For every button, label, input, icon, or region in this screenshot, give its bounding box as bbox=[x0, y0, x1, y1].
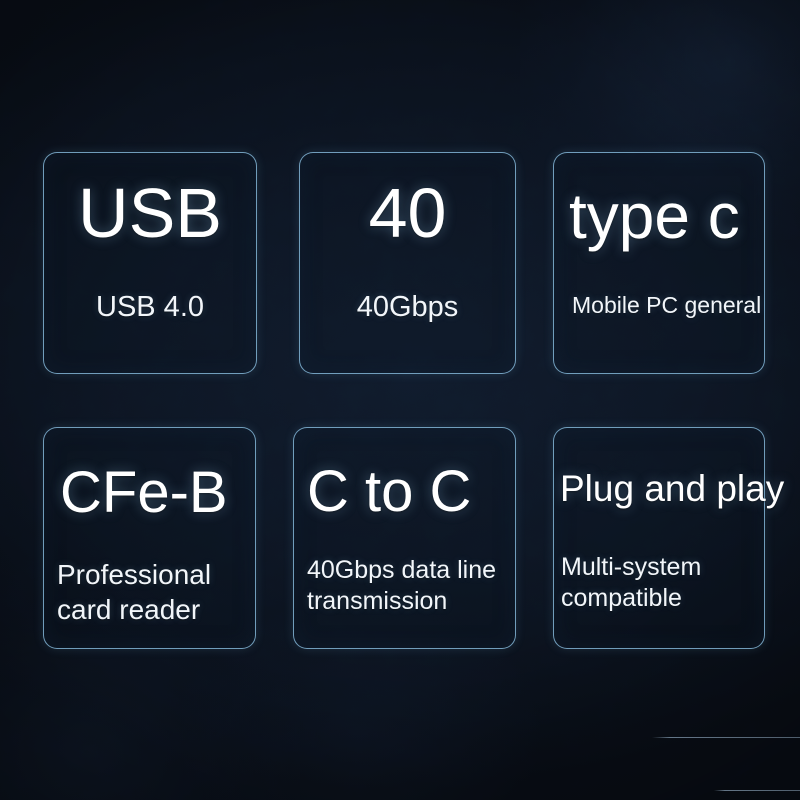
feature-card-grid: USB USB 4.0 40 40Gbps type c Mobile PC g… bbox=[0, 0, 800, 800]
feature-card-usb[interactable] bbox=[43, 152, 257, 374]
feature-card-speed[interactable] bbox=[299, 152, 516, 374]
feature-card-cfeb[interactable] bbox=[43, 427, 256, 649]
feature-card-ctoc[interactable] bbox=[293, 427, 516, 649]
feature-card-plugplay[interactable] bbox=[553, 427, 765, 649]
feature-card-typec[interactable] bbox=[553, 152, 765, 374]
product-feature-graphic: USB USB 4.0 40 40Gbps type c Mobile PC g… bbox=[0, 0, 800, 800]
